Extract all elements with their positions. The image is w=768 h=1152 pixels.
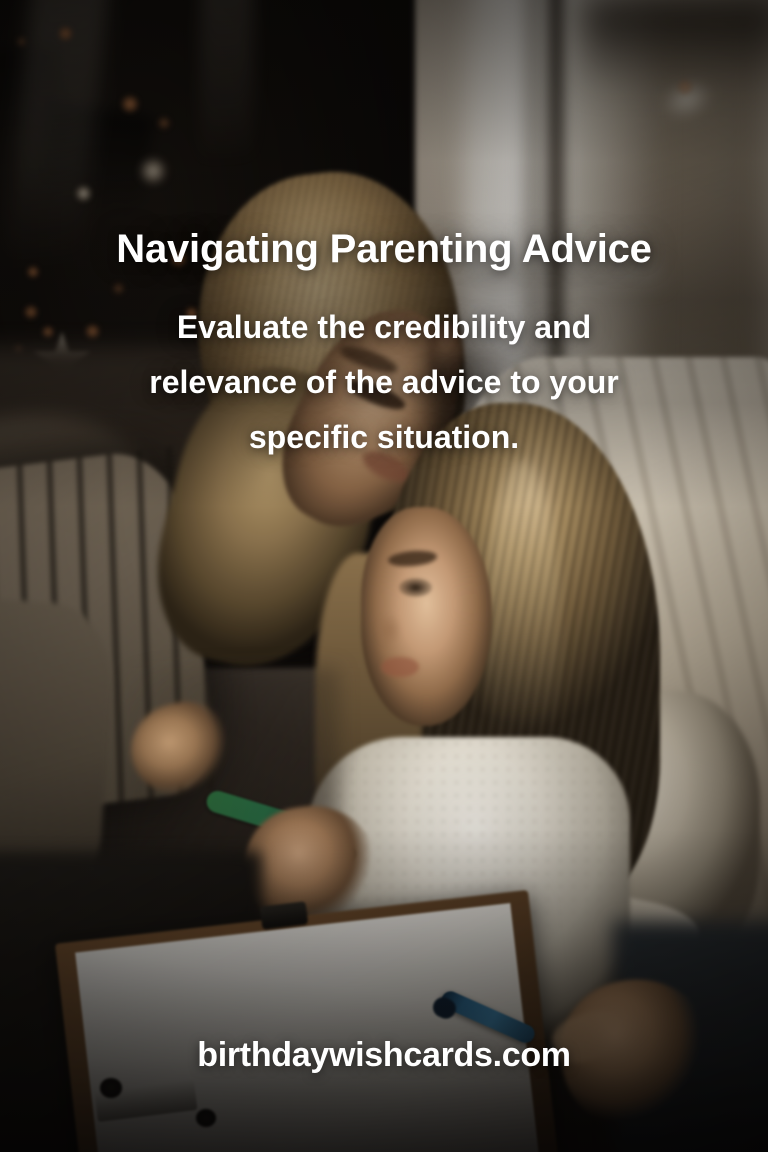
text-overlay: Navigating Parenting Advice Evaluate the… <box>0 0 768 1152</box>
page-subtitle: Evaluate the credibility and relevance o… <box>0 300 768 465</box>
pinterest-pin-card: Navigating Parenting Advice Evaluate the… <box>0 0 768 1152</box>
page-title: Navigating Parenting Advice <box>0 226 768 272</box>
website-url: birthdaywishcards.com <box>0 1036 768 1075</box>
